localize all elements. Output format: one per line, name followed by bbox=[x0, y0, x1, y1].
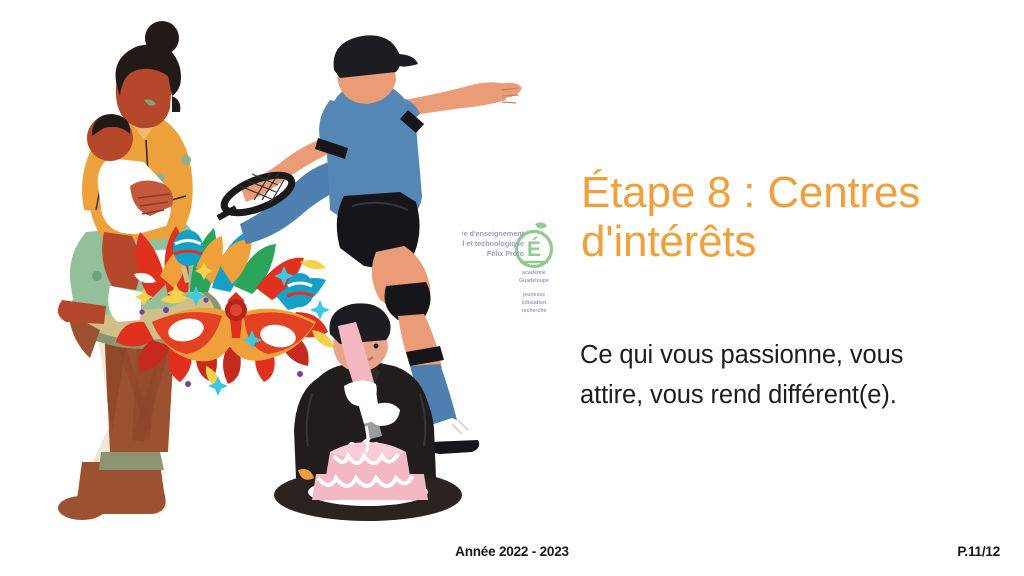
footer-page-number: P.11/12 bbox=[957, 544, 1000, 559]
logo-ministry-line-1: jeunesse bbox=[522, 292, 545, 298]
slide: É lycée d'enseignement général et techno… bbox=[0, 0, 1024, 576]
logo-ministry-line-3: recherche bbox=[522, 308, 547, 314]
emblem-letter: É bbox=[527, 238, 541, 261]
slide-subtitle: Ce qui vous passionne, vous attire, vous… bbox=[580, 336, 960, 415]
logo-line-2: général et technologique bbox=[462, 239, 524, 248]
school-logo: É lycée d'enseignement général et techno… bbox=[462, 218, 562, 316]
logo-academy-line-2: Guadeloupe bbox=[519, 278, 549, 284]
logo-ministry-line-2: éducation bbox=[522, 300, 547, 306]
slide-title: Étape 8 : Centres d'intérêts bbox=[581, 168, 981, 267]
logo-academy-line-1: académie bbox=[522, 270, 546, 276]
logo-line-1: lycée d'enseignement bbox=[462, 229, 525, 238]
logo-line-3: Félix Proto bbox=[487, 249, 525, 258]
footer-year: Année 2022 - 2023 bbox=[0, 544, 1024, 559]
